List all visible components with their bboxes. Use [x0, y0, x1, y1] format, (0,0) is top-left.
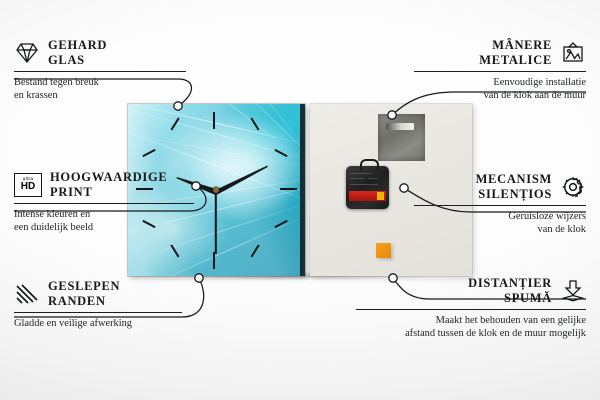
callout-rule	[356, 309, 586, 310]
callout-title-line2: METALICE	[479, 53, 552, 67]
callout-rule	[14, 312, 182, 313]
callout-title-line2: SPUMĂ	[504, 291, 552, 305]
picture-frame-hanger-icon	[560, 41, 586, 65]
callout-title-line2: RANDEN	[48, 294, 106, 308]
clock-tick	[171, 117, 180, 130]
callout-title-line2: GLAS	[48, 53, 85, 67]
callout-desc-line2: van de klok aan de muur	[414, 89, 586, 102]
diamond-icon	[14, 41, 40, 65]
callout-title-line1: GESLEPEN	[48, 279, 120, 293]
callout-title-line1: MÂNERE	[492, 38, 552, 52]
battery	[349, 191, 386, 201]
callout-manere-metalice[interactable]: MÂNERE METALICE Eenvoudige installatie v…	[414, 38, 586, 103]
clock-second-hand	[215, 192, 217, 254]
callout-title-line1: MECANISM	[476, 172, 552, 186]
callout-desc-line1: Gladde en veilige afwerking	[14, 317, 182, 330]
callout-title-line1: HOOGWAARDIGE	[50, 170, 167, 184]
callout-title-line1: DISTANȚIER	[468, 276, 552, 290]
clock-mechanism	[346, 166, 389, 209]
clock-tick	[213, 112, 215, 129]
callout-distantier-spuma[interactable]: DISTANȚIER SPUMĂ Maakt het behouden van …	[356, 276, 586, 341]
clock-tick	[251, 244, 260, 257]
callout-desc-line2: afstand tussen de klok en de muur mogeli…	[356, 327, 586, 340]
callout-rule	[414, 205, 586, 206]
ultra-hd-icon: ultra HD	[14, 173, 42, 197]
foam-spacer	[376, 243, 391, 258]
clock-tick	[142, 149, 155, 157]
callout-desc-line1: Maakt het behouden van een gelijke	[356, 314, 586, 327]
bevelled-edges-icon	[14, 282, 40, 306]
callout-hoogwaardige-print[interactable]: ultra HD HOOGWAARDIGE PRINT Intense kleu…	[14, 170, 194, 235]
callout-title-line2: SILENȚIOS	[478, 187, 552, 201]
callout-rule	[414, 71, 586, 72]
callout-desc-line1: Geruisloze wijzers	[414, 210, 586, 223]
callout-desc-line2: een duidelijk beeld	[14, 221, 194, 234]
clock-center-pin	[213, 187, 219, 193]
down-arrow-layer-icon	[560, 279, 586, 303]
callout-rule	[14, 71, 186, 72]
callout-geslepen-randen[interactable]: GESLEPEN RANDEN Gladde en veilige afwerk…	[14, 279, 182, 330]
hanging-loop-icon	[360, 159, 379, 171]
infographic-canvas: GEHARD GLAS Bestand tegen breuk en krass…	[0, 0, 600, 400]
metal-hanger-icon	[378, 114, 425, 161]
callout-desc-line1: Intense kleuren en	[14, 208, 194, 221]
callout-desc-line2: van de klok	[414, 223, 586, 236]
callout-title-line2: PRINT	[50, 185, 92, 199]
callout-rule	[14, 203, 194, 204]
callout-gehard-glas[interactable]: GEHARD GLAS Bestand tegen breuk en krass…	[14, 38, 186, 103]
callout-mecanism-silentios[interactable]: MECANISM SILENȚIOS Geruisloze wijzers va…	[414, 172, 586, 237]
callout-desc-line1: Eenvoudige installatie	[414, 76, 586, 89]
ultra-hd-big-label: HD	[21, 182, 35, 192]
callout-desc-line1: Bestand tegen breuk	[14, 76, 186, 89]
clock-tick	[280, 188, 297, 190]
clock-tick	[213, 252, 215, 269]
callout-title-line1: GEHARD	[48, 38, 107, 52]
gear-icon	[560, 175, 586, 199]
callout-desc-line2: en krassen	[14, 89, 186, 102]
